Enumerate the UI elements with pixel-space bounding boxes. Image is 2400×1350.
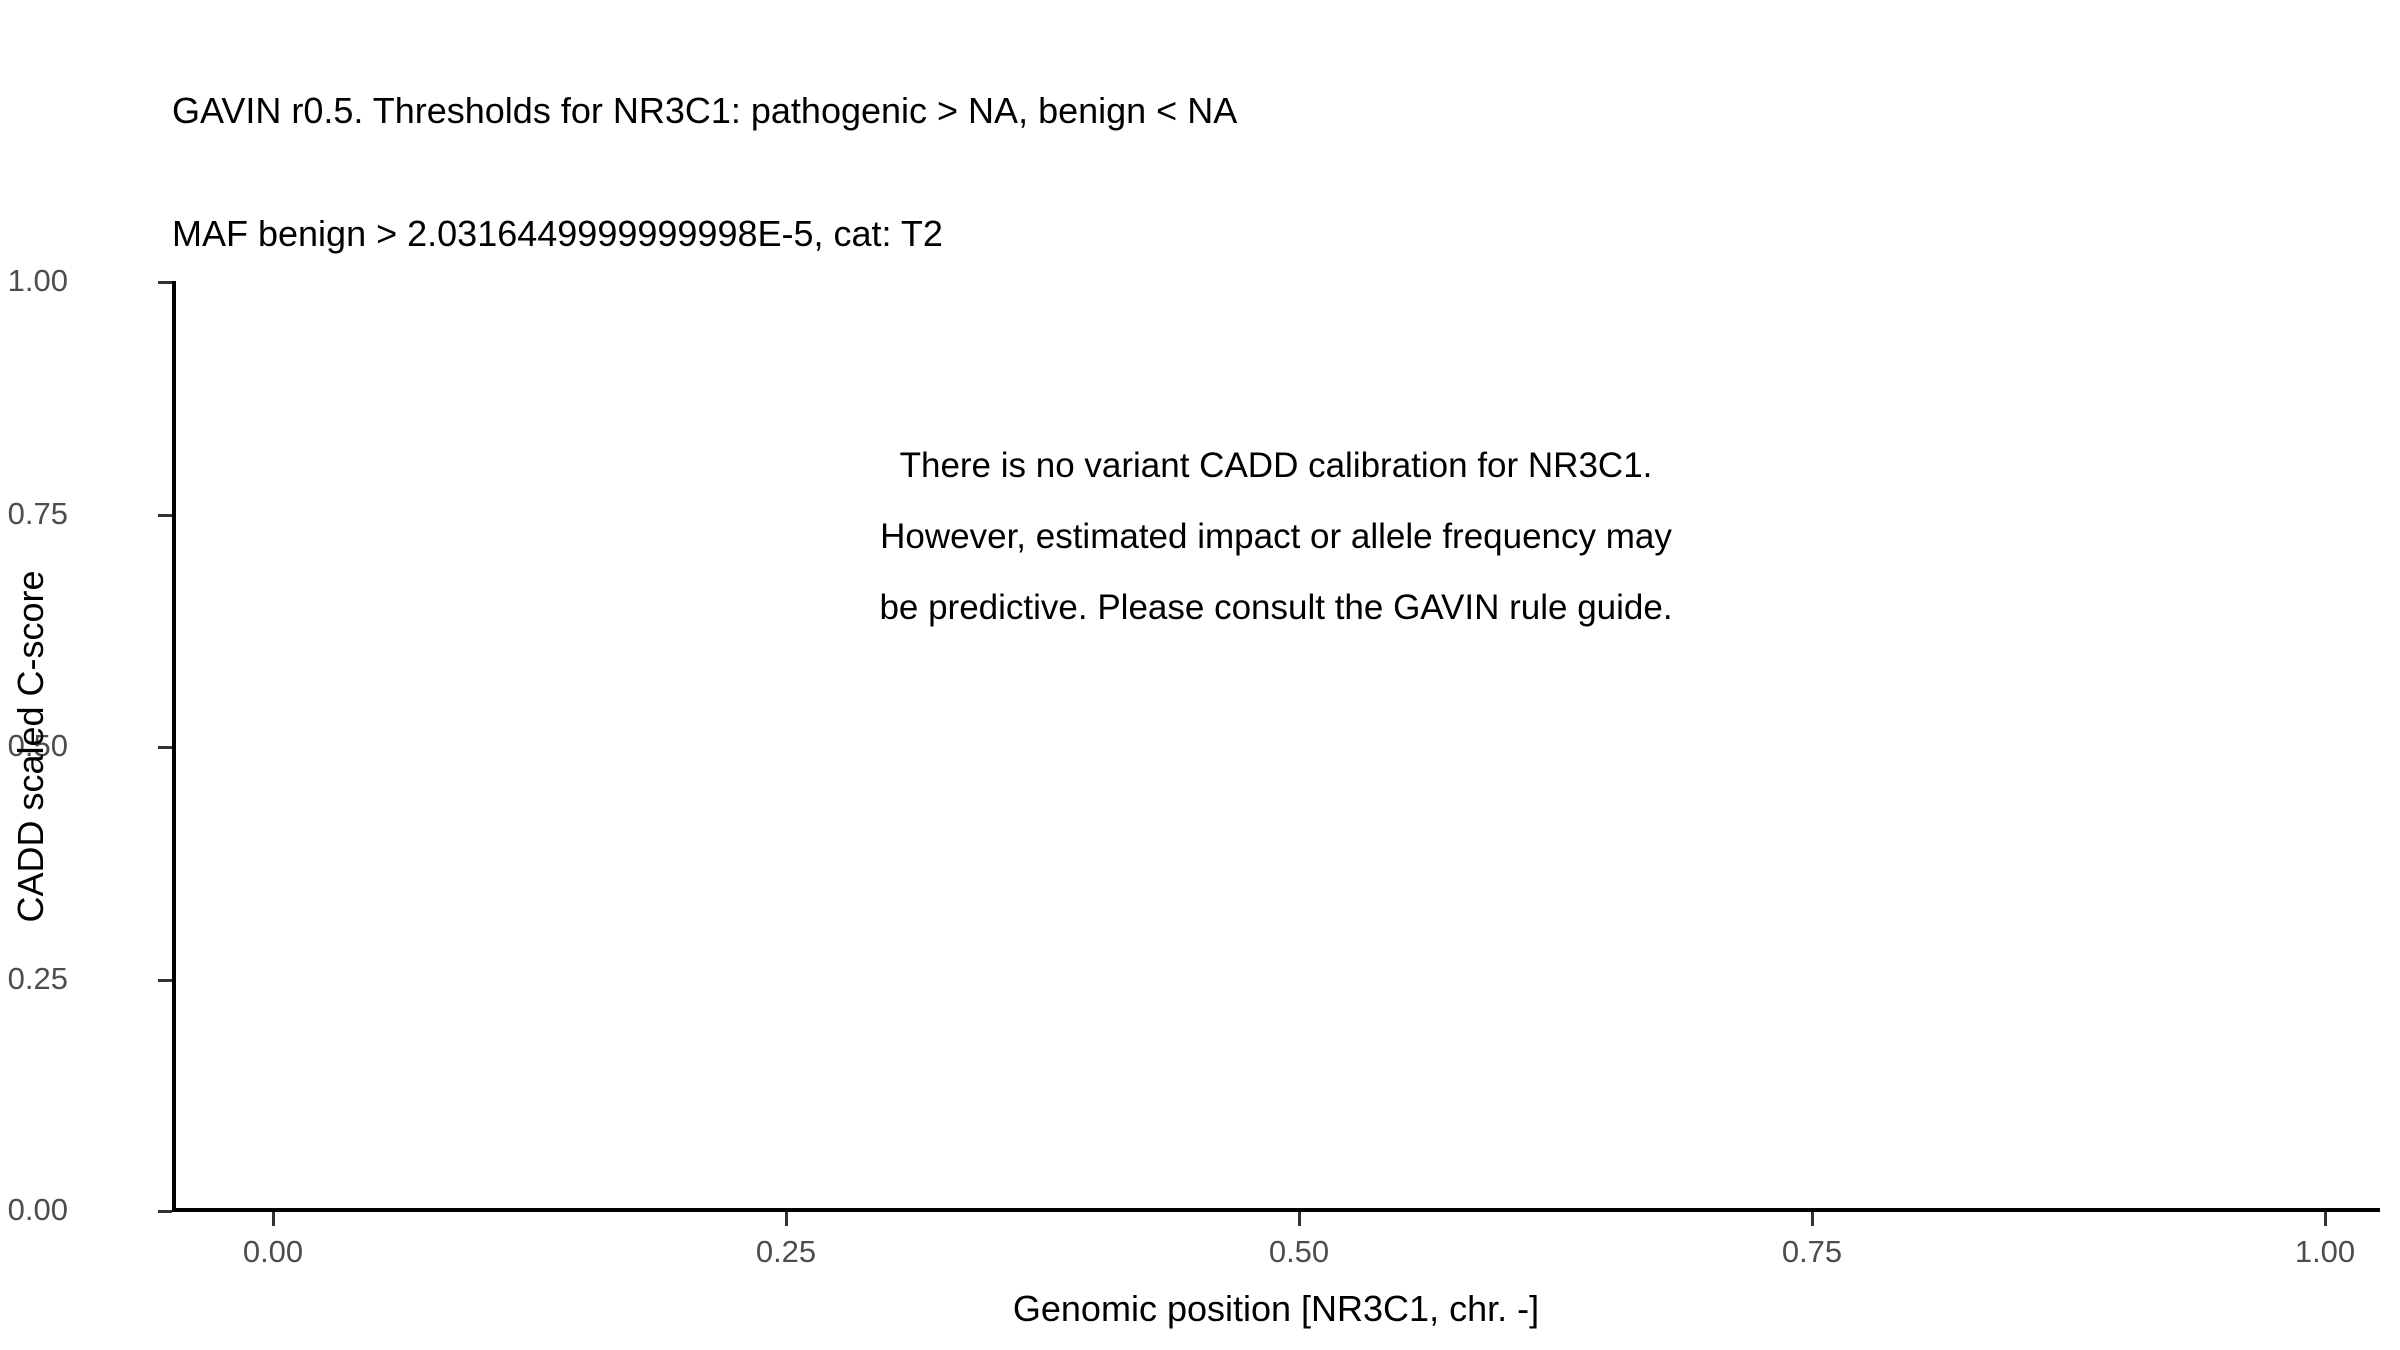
plot-root: GAVIN r0.5. Thresholds for NR3C1: pathog… bbox=[0, 0, 2400, 1350]
x-tick-label-0.00: 0.00 bbox=[243, 1234, 303, 1270]
y-tick-mark-1.00 bbox=[158, 281, 172, 284]
x-tick-mark-0.50 bbox=[1298, 1212, 1301, 1226]
x-tick-mark-0.75 bbox=[1811, 1212, 1814, 1226]
y-axis-line bbox=[172, 281, 176, 1212]
title-line-1: GAVIN r0.5. Thresholds for NR3C1: pathog… bbox=[172, 90, 2352, 131]
x-tick-label-1.00: 1.00 bbox=[2295, 1234, 2355, 1270]
x-axis-line bbox=[172, 1208, 2380, 1212]
x-tick-label-0.75: 0.75 bbox=[1782, 1234, 1842, 1270]
chart-panel bbox=[172, 281, 2380, 1212]
title-line-2: MAF benign > 2.0316449999999998E-5, cat:… bbox=[172, 213, 2352, 254]
y-tick-mark-0.25 bbox=[158, 979, 172, 982]
y-tick-mark-0.50 bbox=[158, 746, 172, 749]
x-tick-mark-1.00 bbox=[2324, 1212, 2327, 1226]
y-axis-title: CADD scaled C-score bbox=[0, 281, 62, 1212]
x-axis-title: Genomic position [NR3C1, chr. -] bbox=[172, 1288, 2380, 1330]
x-tick-label-0.25: 0.25 bbox=[756, 1234, 816, 1270]
y-tick-mark-0.75 bbox=[158, 514, 172, 517]
y-tick-mark-0.00 bbox=[158, 1210, 172, 1213]
x-tick-mark-0.00 bbox=[272, 1212, 275, 1226]
x-tick-label-0.50: 0.50 bbox=[1269, 1234, 1329, 1270]
x-tick-mark-0.25 bbox=[785, 1212, 788, 1226]
